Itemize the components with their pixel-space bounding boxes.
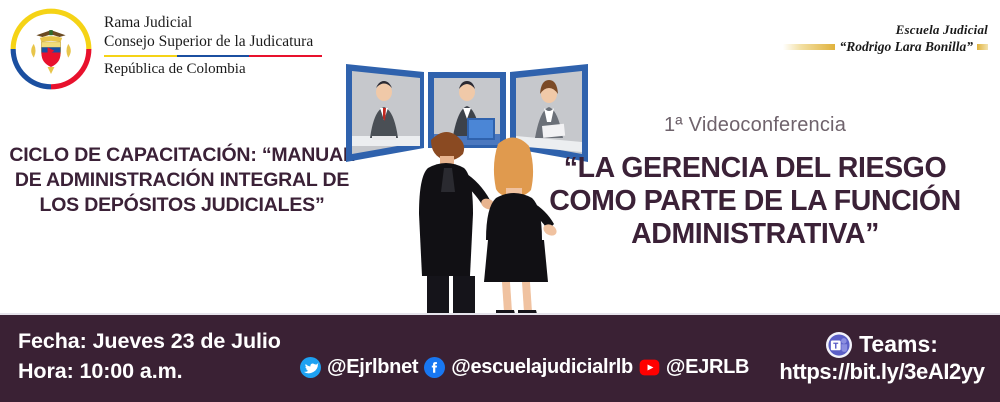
schedule-block: Fecha: Jueves 23 de Julio Hora: 10:00 a.…: [18, 327, 281, 386]
escuela-line-2-row: “Rodrigo Lara Bonilla”: [783, 39, 988, 55]
video-screen-left: [346, 64, 424, 162]
conference-number-label: 1ª Videoconferencia: [520, 114, 990, 137]
facebook-handle[interactable]: @escuelajudicialrlb: [451, 356, 633, 379]
twitter-icon[interactable]: [300, 357, 321, 378]
event-time: Hora: 10:00 a.m.: [18, 357, 281, 387]
footer-bar: Fecha: Jueves 23 de Julio Hora: 10:00 a.…: [0, 313, 1000, 402]
tricolor-divider: [104, 55, 322, 58]
microsoft-teams-icon[interactable]: [826, 332, 852, 358]
brand-text-block: Rama Judicial Consejo Superior de la Jud…: [104, 6, 322, 78]
escuela-line-1: Escuela Judicial: [783, 22, 988, 38]
brand-line-1: Rama Judicial: [104, 14, 322, 33]
divider-red: [249, 55, 322, 58]
youtube-handle[interactable]: @EJRLB: [666, 356, 749, 379]
brand-line-2: Consejo Superior de la Judicatura: [104, 33, 322, 52]
escuela-judicial-logo: Escuela Judicial “Rodrigo Lara Bonilla”: [783, 22, 988, 55]
teams-block: Teams: https://bit.ly/3eAI2yy: [772, 331, 992, 385]
youtube-icon[interactable]: [639, 357, 660, 378]
escuela-line-2: “Rodrigo Lara Bonilla”: [839, 39, 973, 55]
facebook-icon[interactable]: [424, 357, 445, 378]
event-banner: Rama Judicial Consejo Superior de la Jud…: [0, 0, 1000, 400]
gold-bar-right-icon: [977, 44, 988, 50]
gold-bar-left-icon: [783, 44, 835, 50]
rama-judicial-logo: Rama Judicial Consejo Superior de la Jud…: [8, 6, 322, 92]
divider-yellow: [104, 55, 177, 58]
brand-line-3: República de Colombia: [104, 61, 322, 78]
divider-blue: [177, 55, 250, 58]
teams-url[interactable]: https://bit.ly/3eAI2yy: [772, 359, 992, 385]
event-main-title: “LA GERENCIA DEL RIESGO COMO PARTE DE LA…: [518, 152, 992, 251]
social-links: @Ejrlbnet @escuelajudicialrlb @EJRLB: [300, 356, 749, 379]
course-title: CICLO DE CAPACITACIÓN: “MANUAL DE ADMINI…: [6, 143, 358, 218]
man-back-view-figure: [419, 132, 496, 314]
colombia-coat-of-arms-icon: [8, 6, 94, 92]
event-date: Fecha: Jueves 23 de Julio: [18, 327, 281, 357]
twitter-handle[interactable]: @Ejrlbnet: [327, 356, 418, 379]
teams-label-row: Teams:: [772, 331, 992, 358]
teams-label: Teams:: [859, 331, 938, 358]
